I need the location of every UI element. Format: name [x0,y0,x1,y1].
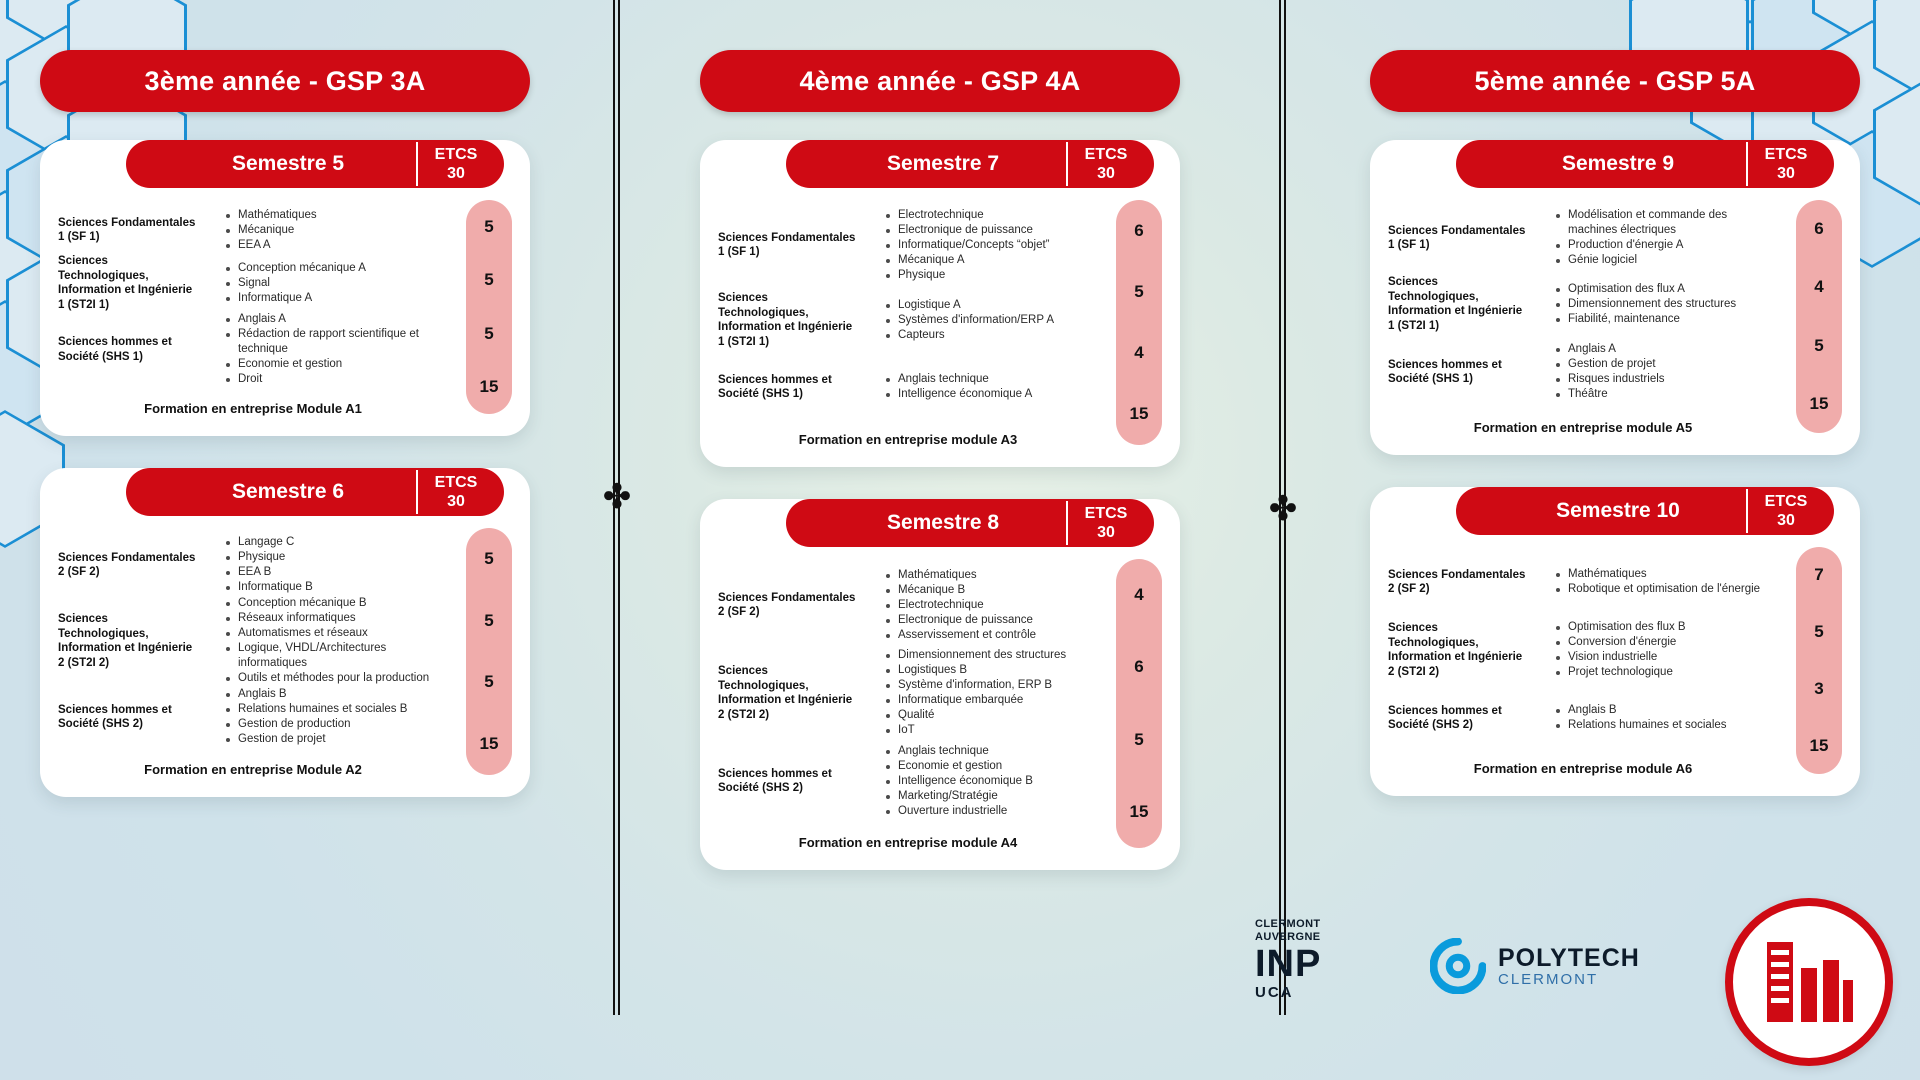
course-item: Logique, VHDL/Architectures informatique… [224,641,448,671]
ects-label: ETCS [1748,145,1824,164]
credits-rail: 7 5 3 15 [1796,547,1842,774]
unit-row: Sciences hommes et Société (SHS 2) Angla… [1388,689,1778,747]
unit-name: Sciences hommes et Société (SHS 1) [58,335,208,364]
course-item: Robotique et optimisation de l'énergie [1554,582,1778,597]
semester-body: 7 5 3 15 Sciences Fondamentales 2 (SF 2)… [1370,535,1860,782]
unit-name: Sciences Technologiques, Information et … [718,664,868,722]
course-item: Relations humaines et sociales [1554,718,1778,733]
unit-courses: Optimisation des flux ADimensionnement d… [1538,282,1778,327]
course-list: Modélisation et commande des machines él… [1554,208,1778,268]
unit-list: Sciences Fondamentales 2 (SF 2) Langage … [40,534,530,748]
credits-rail: 6 4 5 15 [1796,200,1842,433]
unit-row: Sciences Technologiques, Information et … [58,596,448,686]
year-banner-5a: 5ème année - GSP 5A [1370,50,1860,112]
credit-value: 3 [1796,661,1842,718]
ects-badge: ETCS 30 [416,142,494,186]
unit-name: Sciences Technologiques, Information et … [1388,621,1538,679]
course-item: Relations humaines et sociales B [224,702,448,717]
course-list: ElectrotechniqueElectronique de puissanc… [884,208,1098,283]
unit-row: Sciences hommes et Société (SHS 1) Angla… [718,356,1098,418]
unit-row: Sciences Technologiques, Information et … [718,284,1098,356]
polytech-name: POLYTECH [1498,945,1640,971]
inp-wordmark: INP [1255,944,1375,984]
course-item: Informatique B [224,580,448,595]
credit-value: 15 [1796,375,1842,433]
course-item: Capteurs [884,328,1098,343]
course-list: MathématiquesMécanique BElectrotechnique… [884,568,1098,643]
year-banner-3a: 3ème année - GSP 3A [40,50,530,112]
semester-body: 6 5 4 15 Sciences Fondamentales 1 (SF 1)… [700,188,1180,453]
course-item: Logistiques B [884,663,1098,678]
unit-row: Sciences Technologiques, Information et … [1388,270,1778,338]
course-item: Outils et méthodes pour la production [224,671,448,686]
credit-value: 4 [1116,323,1162,384]
course-item: Optimisation des flux A [1554,282,1778,297]
unit-row: Sciences Fondamentales 2 (SF 2) Mathémat… [1388,553,1778,611]
course-list: Anglais BRelations humaines et sociales [1554,703,1778,733]
ects-badge: ETCS 30 [1066,142,1144,186]
ects-label: ETCS [418,473,494,492]
course-item: Dimensionnement des structures [1554,297,1778,312]
credit-value: 15 [466,361,512,415]
credits-rail: 6 5 4 15 [1116,200,1162,445]
semester-title: Semestre 5 [126,152,416,176]
unit-name: Sciences Fondamentales 1 (SF 1) [718,231,868,260]
course-item: Electronique de puissance [884,613,1098,628]
company-training-label: Formation en entreprise module A5 [1370,406,1860,441]
year-column-5a: 5ème année - GSP 5A Semestre 9 ETCS 30 6… [1370,0,1860,796]
semester-header: Semestre 9 ETCS 30 [1456,140,1834,188]
ects-value: 30 [1748,164,1824,183]
course-item: Vision industrielle [1554,650,1778,665]
unit-name: Sciences Fondamentales 2 (SF 2) [718,591,868,620]
unit-name: Sciences Technologiques, Information et … [58,254,208,312]
course-item: Risques industriels [1554,372,1778,387]
unit-row: Sciences Technologiques, Information et … [718,645,1098,741]
course-list: Anglais AGestion de projetRisques indust… [1554,342,1778,402]
semester-header: Semestre 7 ETCS 30 [786,140,1154,188]
school-emblem [1725,898,1893,1066]
semester-card-6: Semestre 6 ETCS 30 5 5 5 15 Sciences Fon… [40,468,530,797]
unit-name: Sciences Fondamentales 2 (SF 2) [58,551,208,580]
unit-name: Sciences hommes et Société (SHS 1) [1388,358,1538,387]
course-list: Optimisation des flux ADimensionnement d… [1554,282,1778,327]
course-item: Mathématiques [224,208,448,223]
unit-row: Sciences Fondamentales 2 (SF 2) Mathémat… [718,565,1098,645]
course-list: Anglais techniqueEconomie et gestionInte… [884,744,1098,819]
ects-value: 30 [1068,523,1144,542]
course-item: Anglais technique [884,744,1098,759]
company-training-label: Formation en entreprise module A3 [700,418,1180,453]
unit-courses: Anglais AGestion de projetRisques indust… [1538,342,1778,402]
unit-courses: Modélisation et commande des machines él… [1538,208,1778,268]
polytech-city: CLERMONT [1498,971,1640,988]
unit-courses: Anglais techniqueEconomie et gestionInte… [868,744,1098,819]
course-item: Systèmes d'information/ERP A [884,313,1098,328]
course-list: Optimisation des flux BConversion d'éner… [1554,620,1778,680]
course-item: Anglais A [224,312,448,327]
course-item: Théâtre [1554,387,1778,402]
credit-value: 5 [466,200,512,254]
course-item: Droit [224,372,448,387]
ects-badge: ETCS 30 [1066,501,1144,545]
semester-body: 4 6 5 15 Sciences Fondamentales 2 (SF 2)… [700,547,1180,856]
semester-card-10: Semestre 10 ETCS 30 7 5 3 15 Sciences Fo… [1370,487,1860,796]
unit-list: Sciences Fondamentales 2 (SF 2) Mathémat… [1370,553,1860,747]
course-list: MathématiquesRobotique et optimisation d… [1554,567,1778,597]
company-training-label: Formation en entreprise Module A2 [40,748,530,783]
unit-name: Sciences hommes et Société (SHS 2) [1388,704,1538,733]
credit-value: 5 [466,590,512,652]
unit-row: Sciences Fondamentales 1 (SF 1) Modélisa… [1388,206,1778,270]
ects-label: ETCS [1748,492,1824,511]
course-item: Asservissement et contrôle [884,628,1098,643]
course-item: Anglais B [224,687,448,702]
course-list: Anglais BRelations humaines et sociales … [224,687,448,747]
course-item: Anglais technique [884,372,1098,387]
unit-courses: Anglais BRelations humaines et sociales [1538,703,1778,733]
inp-top-line-1: CLERMONT [1255,918,1375,931]
unit-name: Sciences Fondamentales 2 (SF 2) [1388,568,1538,597]
unit-row: Sciences hommes et Société (SHS 2) Angla… [58,686,448,748]
course-item: Gestion de projet [224,732,448,747]
unit-row: Sciences Fondamentales 1 (SF 1) Mathémat… [58,206,448,254]
credit-value: 6 [1116,200,1162,261]
unit-name: Sciences hommes et Société (SHS 2) [58,703,208,732]
course-item: Production d'énergie A [1554,238,1778,253]
year-banner-4a: 4ème année - GSP 4A [700,50,1180,112]
unit-list: Sciences Fondamentales 1 (SF 1) Modélisa… [1370,206,1860,406]
company-training-label: Formation en entreprise module A4 [700,821,1180,856]
credit-value: 5 [466,307,512,361]
credit-value: 5 [1796,604,1842,661]
course-item: Projet technologique [1554,665,1778,680]
unit-name: Sciences hommes et Société (SHS 1) [718,373,868,402]
unit-courses: Anglais BRelations humaines et sociales … [208,687,448,747]
inp-uca-mark: UCA [1255,984,1375,1001]
unit-courses: Anglais techniqueIntelligence économique… [868,372,1098,402]
semester-header: Semestre 5 ETCS 30 [126,140,504,188]
unit-row: Sciences Technologiques, Information et … [58,254,448,312]
unit-row: Sciences hommes et Société (SHS 2) Angla… [718,741,1098,821]
ects-badge: ETCS 30 [1746,142,1824,186]
semester-body: 5 5 5 15 Sciences Fondamentales 2 (SF 2)… [40,516,530,783]
course-item: Dimensionnement des structures [884,648,1098,663]
course-item: Mathématiques [1554,567,1778,582]
credit-value: 7 [1796,547,1842,604]
unit-courses: MathématiquesRobotique et optimisation d… [1538,567,1778,597]
course-list: MathématiquesMécaniqueEEA A [224,208,448,253]
year-column-4a: 4ème année - GSP 4A Semestre 7 ETCS 30 6… [700,0,1180,870]
course-item: Informatique A [224,291,448,306]
unit-row: Sciences hommes et Société (SHS 1) Angla… [1388,338,1778,406]
semester-title: Semestre 6 [126,480,416,504]
unit-courses: MathématiquesMécanique BElectrotechnique… [868,568,1098,643]
course-item: Physique [224,550,448,565]
credit-value: 4 [1796,258,1842,316]
course-list: Dimensionnement des structuresLogistique… [884,648,1098,738]
course-item: Automatismes et réseaux [224,626,448,641]
credits-rail: 5 5 5 15 [466,528,512,775]
course-item: Mécanique A [884,253,1098,268]
credit-value: 5 [466,528,512,590]
course-list: Logistique ASystèmes d'information/ERP A… [884,298,1098,343]
course-item: Electrotechnique [884,598,1098,613]
course-item: Anglais B [1554,703,1778,718]
unit-courses: Langage CPhysiqueEEA BInformatique B [208,535,448,595]
course-item: Conception mécanique A [224,261,448,276]
ects-value: 30 [418,492,494,511]
semester-card-5: Semestre 5 ETCS 30 5 5 5 15 Sciences Fon… [40,140,530,436]
credit-value: 5 [1116,261,1162,322]
credit-value: 15 [1796,717,1842,774]
unit-name: Sciences Technologiques, Information et … [1388,275,1538,333]
credit-value: 15 [1116,384,1162,445]
course-item: Intelligence économique A [884,387,1098,402]
unit-name: Sciences Fondamentales 1 (SF 1) [58,216,208,245]
course-item: Marketing/Stratégie [884,789,1098,804]
course-item: Réseaux informatiques [224,611,448,626]
ornament-diamond-icon: ✤ [598,478,636,516]
credit-value: 5 [1116,704,1162,776]
course-item: Logistique A [884,298,1098,313]
course-item: Gestion de projet [1554,357,1778,372]
ects-label: ETCS [418,145,494,164]
ects-badge: ETCS 30 [1746,489,1824,533]
course-list: Conception mécanique ASignalInformatique… [224,261,448,306]
company-training-label: Formation en entreprise Module A1 [40,387,530,422]
ects-label: ETCS [1068,504,1144,523]
semester-header: Semestre 10 ETCS 30 [1456,487,1834,535]
unit-list: Sciences Fondamentales 2 (SF 2) Mathémat… [700,565,1180,821]
column-separator-1: ✤ [612,0,622,1015]
credit-value: 5 [466,652,512,714]
semester-title: Semestre 9 [1456,152,1746,176]
course-item: Informatique embarquée [884,693,1098,708]
course-item: Intelligence économique B [884,774,1098,789]
course-item: Conversion d'énergie [1554,635,1778,650]
course-list: Langage CPhysiqueEEA BInformatique B [224,535,448,595]
course-item: Economie et gestion [224,357,448,372]
polytech-wordmark: POLYTECH CLERMONT [1498,945,1640,988]
unit-row: Sciences hommes et Société (SHS 1) Angla… [58,312,448,387]
unit-courses: Conception mécanique ASignalInformatique… [208,261,448,306]
unit-list: Sciences Fondamentales 1 (SF 1) Mathémat… [40,206,530,387]
logo-strip: CLERMONT AUVERGNE INP UCA POLYTECH CLERM… [1255,910,1895,1060]
unit-row: Sciences Technologiques, Information et … [1388,611,1778,689]
course-item: Génie logiciel [1554,253,1778,268]
semester-card-9: Semestre 9 ETCS 30 6 4 5 15 Sciences Fon… [1370,140,1860,455]
course-item: Informatique/Concepts “objet” [884,238,1098,253]
course-item: Signal [224,276,448,291]
ects-badge: ETCS 30 [416,470,494,514]
unit-name: Sciences Fondamentales 1 (SF 1) [1388,224,1538,253]
course-item: Langage C [224,535,448,550]
ects-value: 30 [418,164,494,183]
course-list: Anglais techniqueIntelligence économique… [884,372,1098,402]
column-separator-2: ✤ [1278,0,1288,1015]
unit-row: Sciences Fondamentales 2 (SF 2) Langage … [58,534,448,596]
semester-header: Semestre 6 ETCS 30 [126,468,504,516]
ects-value: 30 [1748,511,1824,530]
unit-name: Sciences Technologiques, Information et … [58,612,208,670]
semester-body: 5 5 5 15 Sciences Fondamentales 1 (SF 1)… [40,188,530,422]
course-item: Electrotechnique [884,208,1098,223]
credit-value: 15 [1116,776,1162,848]
credits-rail: 5 5 5 15 [466,200,512,414]
course-item: IoT [884,723,1098,738]
semester-card-8: Semestre 8 ETCS 30 4 6 5 15 Sciences Fon… [700,499,1180,870]
course-item: Physique [884,268,1098,283]
course-item: Rédaction de rapport scientifique et tec… [224,327,448,357]
clermont-inp-logo: CLERMONT AUVERGNE INP UCA [1255,918,1375,1001]
unit-courses: MathématiquesMécaniqueEEA A [208,208,448,253]
unit-name: Sciences hommes et Société (SHS 2) [718,767,868,796]
polytech-swirl-icon [1430,938,1486,994]
semester-title: Semestre 10 [1456,499,1746,523]
course-list: Anglais ARédaction de rapport scientifiq… [224,312,448,387]
course-item: Anglais A [1554,342,1778,357]
unit-courses: Anglais ARédaction de rapport scientifiq… [208,312,448,387]
course-item: Modélisation et commande des machines él… [1554,208,1778,238]
company-training-label: Formation en entreprise module A6 [1370,747,1860,782]
curriculum-board: ✤ ✤ 3ème année - GSP 3A Semestre 5 ETCS … [0,0,1920,1080]
unit-courses: Logistique ASystèmes d'information/ERP A… [868,298,1098,343]
course-item: Gestion de production [224,717,448,732]
course-item: Mécanique [224,223,448,238]
semester-title: Semestre 8 [786,511,1066,535]
course-item: Mathématiques [884,568,1098,583]
course-item: Optimisation des flux B [1554,620,1778,635]
course-list: Conception mécanique BRéseaux informatiq… [224,596,448,686]
course-item: EEA B [224,565,448,580]
semester-card-7: Semestre 7 ETCS 30 6 5 4 15 Sciences Fon… [700,140,1180,467]
ects-value: 30 [1068,164,1144,183]
unit-courses: Dimensionnement des structuresLogistique… [868,648,1098,738]
course-item: Qualité [884,708,1098,723]
course-item: Fiabilité, maintenance [1554,312,1778,327]
semester-body: 6 4 5 15 Sciences Fondamentales 1 (SF 1)… [1370,188,1860,441]
unit-row: Sciences Fondamentales 1 (SF 1) Electrot… [718,206,1098,284]
unit-courses: Conception mécanique BRéseaux informatiq… [208,596,448,686]
ects-label: ETCS [1068,145,1144,164]
credit-value: 4 [1116,559,1162,631]
credit-value: 15 [466,713,512,775]
credits-rail: 4 6 5 15 [1116,559,1162,848]
credit-value: 6 [1116,631,1162,703]
course-item: Ouverture industrielle [884,804,1098,819]
credit-value: 5 [1796,317,1842,375]
ornament-diamond-icon: ✤ [1264,490,1302,528]
polytech-logo: POLYTECH CLERMONT [1430,938,1640,994]
course-item: EEA A [224,238,448,253]
unit-courses: ElectrotechniqueElectronique de puissanc… [868,208,1098,283]
year-column-3a: 3ème année - GSP 3A Semestre 5 ETCS 30 5… [40,0,530,797]
unit-name: Sciences Technologiques, Information et … [718,291,868,349]
unit-list: Sciences Fondamentales 1 (SF 1) Electrot… [700,206,1180,418]
course-item: Economie et gestion [884,759,1098,774]
semester-title: Semestre 7 [786,152,1066,176]
credit-value: 6 [1796,200,1842,258]
course-item: Conception mécanique B [224,596,448,611]
course-item: Electronique de puissance [884,223,1098,238]
unit-courses: Optimisation des flux BConversion d'éner… [1538,620,1778,680]
factory-emblem-icon [1759,932,1859,1032]
credit-value: 5 [466,254,512,308]
course-item: Système d'information, ERP B [884,678,1098,693]
course-item: Mécanique B [884,583,1098,598]
semester-header: Semestre 8 ETCS 30 [786,499,1154,547]
